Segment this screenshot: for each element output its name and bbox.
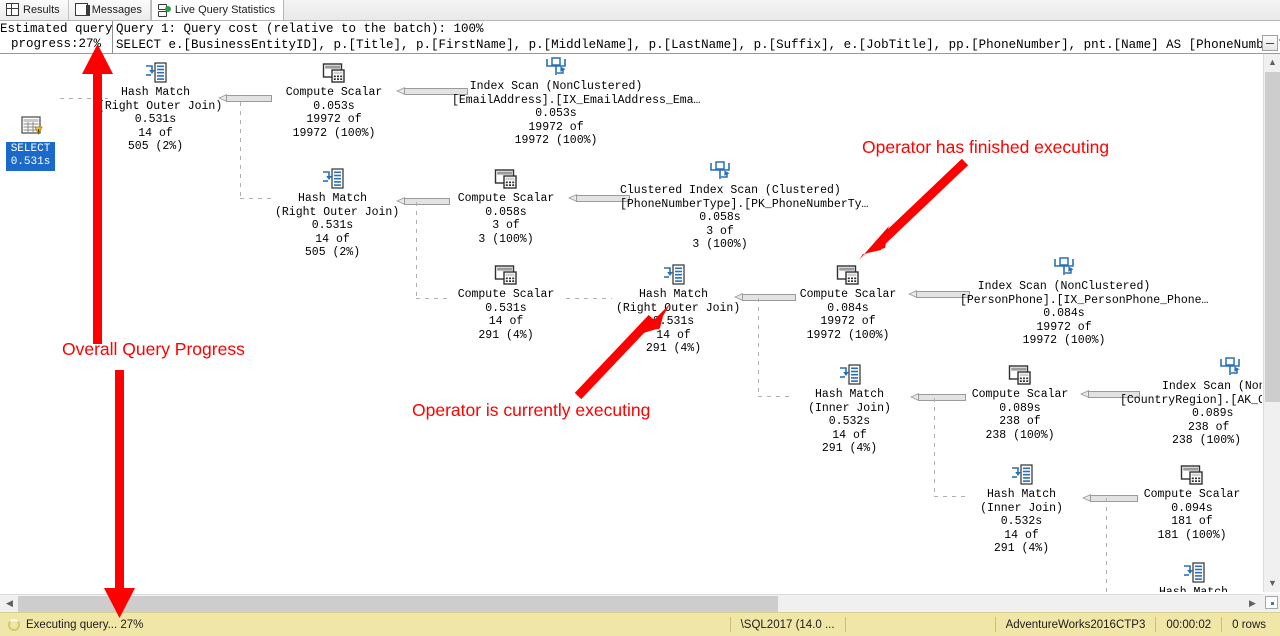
connector-dotted xyxy=(934,398,935,496)
connector-dotted xyxy=(416,298,450,299)
operator-time: 0.531s xyxy=(450,302,562,316)
connector-dotted xyxy=(240,198,274,199)
operator-time: 0.532s xyxy=(792,415,907,429)
estimated-progress-line1: Estimated query xyxy=(0,22,112,37)
execution-plan-canvas[interactable]: SELECT 0.531s Hash Match (Right Outer Jo… xyxy=(0,54,1262,592)
operator-time: 0.058s xyxy=(620,211,820,225)
hash-match-icon xyxy=(1136,562,1251,584)
loading-spinner-icon xyxy=(8,619,20,631)
operator-detail: [PhoneNumberType].[PK_PhoneNumberTy… xyxy=(620,198,820,212)
index-scan-icon xyxy=(452,56,660,78)
scroll-up-button[interactable]: ▲ xyxy=(1265,54,1280,71)
scroll-down-button[interactable]: ▼ xyxy=(1265,575,1280,592)
operator-rows: 14 of xyxy=(792,429,907,443)
operator-name: Hash Match xyxy=(792,388,907,402)
operator-detail: (Inner Join) xyxy=(964,502,1079,516)
operator-hash-match-5[interactable]: Hash Match (Inner Join) 0.532s 14 of 291… xyxy=(964,464,1079,556)
operator-compute-scalar-3[interactable]: Compute Scalar 0.531s 14 of 291 (4%) xyxy=(450,264,562,342)
operator-time: 0.089s xyxy=(1120,407,1262,421)
hash-match-icon xyxy=(616,264,731,286)
document-icon xyxy=(75,3,88,16)
operator-total: 291 (4%) xyxy=(450,329,562,343)
operator-total: 238 (100%) xyxy=(1120,434,1262,448)
operator-compute-scalar-5[interactable]: Compute Scalar 0.089s 238 of 238 (100%) xyxy=(964,364,1076,442)
operator-name: Compute Scalar xyxy=(450,192,562,206)
annotation-arrow-executing xyxy=(560,304,680,404)
operator-name: Index Scan (NonClu xyxy=(1120,380,1262,394)
index-scan-icon xyxy=(960,256,1168,278)
hash-match-icon xyxy=(964,464,1079,486)
operator-total: 19972 (100%) xyxy=(278,127,390,141)
connector-dotted xyxy=(566,298,612,299)
query-plan-header: Estimated query progress:27% Query 1: Qu… xyxy=(0,21,1280,54)
operator-time: 0.094s xyxy=(1136,502,1248,516)
connector-dotted xyxy=(240,102,241,198)
operator-hash-match-6-clipped[interactable]: Hash Match xyxy=(1136,562,1251,592)
connector-dotted xyxy=(416,202,417,298)
status-execution-text: Executing query... 27% xyxy=(26,619,143,631)
operator-rows: 181 of xyxy=(1136,515,1248,529)
operator-rows: 19972 of xyxy=(278,113,390,127)
operator-clustered-index-scan-phonenumbertype[interactable]: Clustered Index Scan (Clustered) [PhoneN… xyxy=(620,160,820,252)
operator-select[interactable]: SELECT 0.531s xyxy=(6,116,56,171)
operator-total: 19972 (100%) xyxy=(960,334,1168,348)
operator-name: Hash Match xyxy=(616,288,731,302)
hash-match-icon xyxy=(792,364,907,386)
operator-compute-scalar-6[interactable]: Compute Scalar 0.094s 181 of 181 (100%) xyxy=(1136,464,1248,542)
operator-name: Index Scan (NonClustered) xyxy=(960,280,1168,294)
status-elapsed-time: 00:00:02 xyxy=(1155,617,1221,632)
horizontal-scrollbar[interactable]: ◀ ▶ xyxy=(0,594,1280,612)
compute-scalar-icon xyxy=(1136,464,1248,486)
connector-arrow xyxy=(396,197,450,206)
operator-rows: 19972 of xyxy=(960,321,1168,335)
hash-match-icon xyxy=(275,168,390,190)
header-collapse-button[interactable] xyxy=(1262,35,1278,51)
operator-compute-scalar-1[interactable]: Compute Scalar 0.053s 19972 of 19972 (10… xyxy=(278,62,390,140)
tab-results[interactable]: Results xyxy=(0,0,69,20)
operator-detail: (Right Outer Join) xyxy=(275,206,390,220)
operator-name: Index Scan (NonClustered) xyxy=(452,80,660,94)
operator-name: Compute Scalar xyxy=(792,288,904,302)
operator-index-scan-countryregion[interactable]: Index Scan (NonClu [CountryRegion].[AK_C… xyxy=(1120,356,1262,448)
operator-name: Compute Scalar xyxy=(278,86,390,100)
operator-name: Compute Scalar xyxy=(450,288,562,302)
operator-detail: (Inner Join) xyxy=(792,402,907,416)
operator-name: Hash Match xyxy=(964,488,1079,502)
operator-rows: 14 of xyxy=(450,315,562,329)
annotation-arrow-progress-up xyxy=(82,44,116,344)
annotation-arrow-finished xyxy=(855,154,975,264)
index-scan-icon xyxy=(1120,356,1262,378)
query-sql-line: SELECT e.[BusinessEntityID], p.[Title], … xyxy=(116,38,1280,54)
status-login-placeholder xyxy=(845,617,995,632)
operator-rows: 238 of xyxy=(1120,421,1262,435)
operator-index-scan-emailaddress[interactable]: Index Scan (NonClustered) [EmailAddress]… xyxy=(452,56,660,148)
zoom-to-fit-button[interactable] xyxy=(1265,596,1278,609)
select-cost: 0.531s xyxy=(6,156,55,169)
operator-time: 0.089s xyxy=(964,402,1076,416)
grid-icon xyxy=(6,3,19,16)
operator-total: 291 (4%) xyxy=(964,542,1079,556)
status-row-count: 0 rows xyxy=(1221,617,1280,632)
scroll-left-button[interactable]: ◀ xyxy=(2,595,17,612)
query-cost-line: Query 1: Query cost (relative to the bat… xyxy=(116,22,1280,38)
connector-arrow xyxy=(910,393,966,402)
compute-scalar-icon xyxy=(450,168,562,190)
operator-time: 0.058s xyxy=(450,206,562,220)
status-database: AdventureWorks2016CTP3 xyxy=(995,617,1156,632)
compute-scalar-icon xyxy=(964,364,1076,386)
live-query-statistics-window: Results Messages Live Query Statistics E… xyxy=(0,0,1280,636)
index-scan-icon xyxy=(620,160,820,182)
vertical-scroll-thumb[interactable] xyxy=(1265,72,1280,402)
operator-hash-match-2[interactable]: Hash Match (Right Outer Join) 0.531s 14 … xyxy=(275,168,390,260)
tab-live-query-statistics-label: Live Query Statistics xyxy=(175,4,275,16)
scroll-right-button[interactable]: ▶ xyxy=(1245,595,1260,612)
status-server: \SQL2017 (14.0 ... xyxy=(730,617,845,632)
operator-detail: [EmailAddress].[IX_EmailAddress_Ema… xyxy=(452,94,660,108)
connector-arrow xyxy=(218,94,272,103)
connector-arrow xyxy=(1082,494,1138,503)
connector-dotted xyxy=(758,298,759,396)
operator-name: Compute Scalar xyxy=(1136,488,1248,502)
operator-total: 3 (100%) xyxy=(450,233,562,247)
operator-detail: [PersonPhone].[IX_PersonPhone_Phone… xyxy=(960,294,1168,308)
status-right-group: \SQL2017 (14.0 ... AdventureWorks2016CTP… xyxy=(730,613,1280,636)
connector-arrow xyxy=(734,293,796,302)
select-result-icon xyxy=(6,116,56,142)
operator-compute-scalar-4[interactable]: Compute Scalar 0.084s 19972 of 19972 (10… xyxy=(792,264,904,342)
operator-time: 0.084s xyxy=(960,307,1168,321)
operator-total: 19972 (100%) xyxy=(452,134,660,148)
operator-index-scan-personphone[interactable]: Index Scan (NonClustered) [PersonPhone].… xyxy=(960,256,1168,348)
operator-time: 0.053s xyxy=(278,100,390,114)
operator-time: 0.532s xyxy=(964,515,1079,529)
tab-messages-label: Messages xyxy=(92,4,142,16)
operator-total: 3 (100%) xyxy=(620,238,820,252)
operator-rows: 14 of xyxy=(964,529,1079,543)
operator-time: 0.531s xyxy=(275,219,390,233)
operator-compute-scalar-2[interactable]: Compute Scalar 0.058s 3 of 3 (100%) xyxy=(450,168,562,246)
operator-rows: 3 of xyxy=(620,225,820,239)
live-query-statistics-icon xyxy=(158,3,171,16)
tab-messages[interactable]: Messages xyxy=(69,0,151,20)
operator-rows: 238 of xyxy=(964,415,1076,429)
operator-time: 0.053s xyxy=(452,107,660,121)
operator-name: Clustered Index Scan (Clustered) xyxy=(620,184,820,198)
operator-detail: [CountryRegion].[AK_Cou… xyxy=(1120,394,1262,408)
operator-total: 238 (100%) xyxy=(964,429,1076,443)
connector-dotted xyxy=(758,396,792,397)
operator-rows: 14 of xyxy=(275,233,390,247)
operator-total: 19972 (100%) xyxy=(792,329,904,343)
connector-dotted xyxy=(934,496,968,497)
operator-name: Compute Scalar xyxy=(964,388,1076,402)
tab-results-label: Results xyxy=(23,4,60,16)
select-label: SELECT xyxy=(6,143,55,156)
query-text: Query 1: Query cost (relative to the bat… xyxy=(116,21,1280,53)
operator-total: 181 (100%) xyxy=(1136,529,1248,543)
operator-time: 0.084s xyxy=(792,302,904,316)
operator-total: 505 (2%) xyxy=(275,246,390,260)
operator-rows: 19972 of xyxy=(452,121,660,135)
operator-rows: 3 of xyxy=(450,219,562,233)
compute-scalar-icon xyxy=(450,264,562,286)
operator-name: Hash Match xyxy=(275,192,390,206)
operator-name: Hash Match xyxy=(1136,586,1251,592)
compute-scalar-icon xyxy=(278,62,390,84)
operator-hash-match-4[interactable]: Hash Match (Inner Join) 0.532s 14 of 291… xyxy=(792,364,907,456)
vertical-scrollbar[interactable]: ▲ ▼ xyxy=(1263,54,1280,592)
tab-live-query-statistics[interactable]: Live Query Statistics xyxy=(151,0,284,20)
status-bar: Executing query... 27% \SQL2017 (14.0 ..… xyxy=(0,612,1280,636)
annotation-arrow-progress-down xyxy=(104,370,138,618)
operator-rows: 19972 of xyxy=(792,315,904,329)
status-execution-group: Executing query... 27% xyxy=(0,619,143,631)
results-pane-tabstrip: Results Messages Live Query Statistics xyxy=(0,0,1280,21)
connector-dotted xyxy=(1106,498,1107,592)
operator-total: 291 (4%) xyxy=(792,442,907,456)
compute-scalar-icon xyxy=(792,264,904,286)
select-node-box: SELECT 0.531s xyxy=(6,142,55,171)
